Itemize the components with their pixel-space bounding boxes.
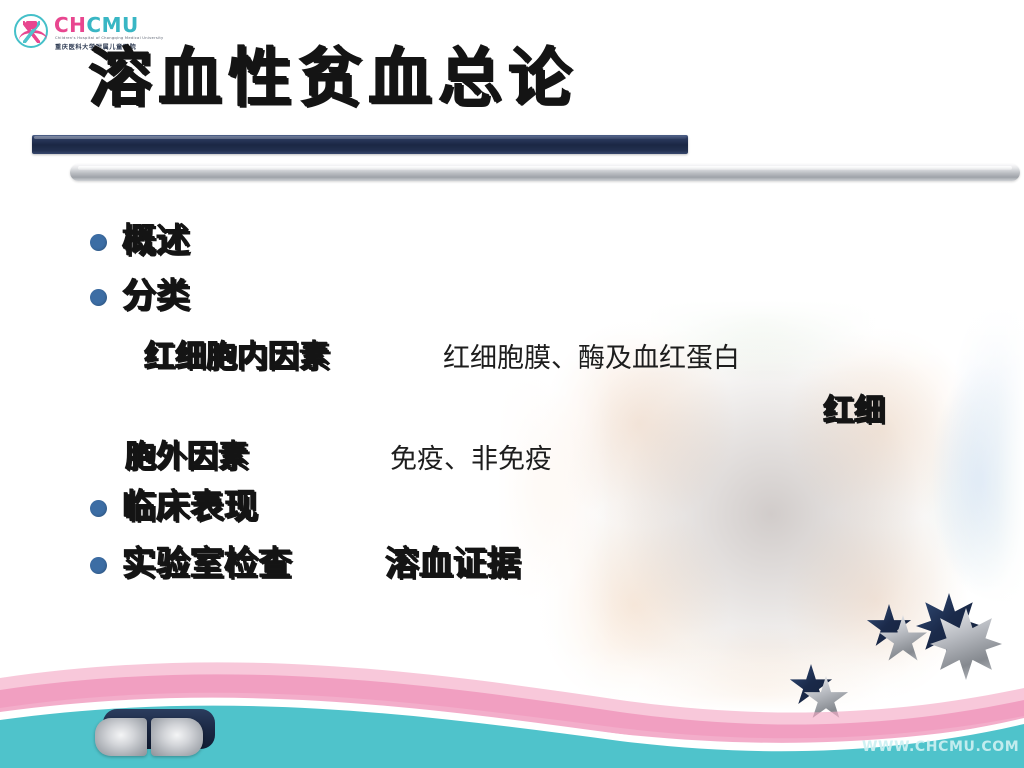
emblem-pill-left bbox=[95, 718, 147, 756]
bullet-item-label: 概述 bbox=[122, 224, 190, 258]
sub-item-term-wrapped: 红细 bbox=[823, 396, 885, 427]
capsule-emblem-icon bbox=[95, 709, 220, 759]
sub-item-detail: 红细胞膜、酶及血红蛋白 bbox=[443, 345, 740, 372]
bullet-marker bbox=[90, 557, 107, 574]
bullet-marker bbox=[90, 500, 107, 517]
sub-item-term: 红细胞内因素 bbox=[144, 342, 330, 373]
footer-url: WWW.CHCMU.COM bbox=[862, 739, 1019, 755]
presentation-slide: CHCMU Children's Hospital of Chongqing M… bbox=[0, 0, 1024, 768]
sub-item-detail: 免疫、非免疫 bbox=[390, 446, 552, 473]
bullet-marker bbox=[90, 289, 107, 306]
emblem-pill-right bbox=[151, 718, 203, 756]
bullet-marker bbox=[90, 234, 107, 251]
bullet-item-label: 分类 bbox=[122, 279, 190, 313]
sub-item-term: 胞外因素 bbox=[125, 442, 249, 473]
bullet-item-detail: 溶血证据 bbox=[385, 547, 521, 581]
bullet-item-label: 实验室检查 bbox=[122, 547, 292, 581]
bullet-item-label: 临床表现 bbox=[122, 490, 258, 524]
